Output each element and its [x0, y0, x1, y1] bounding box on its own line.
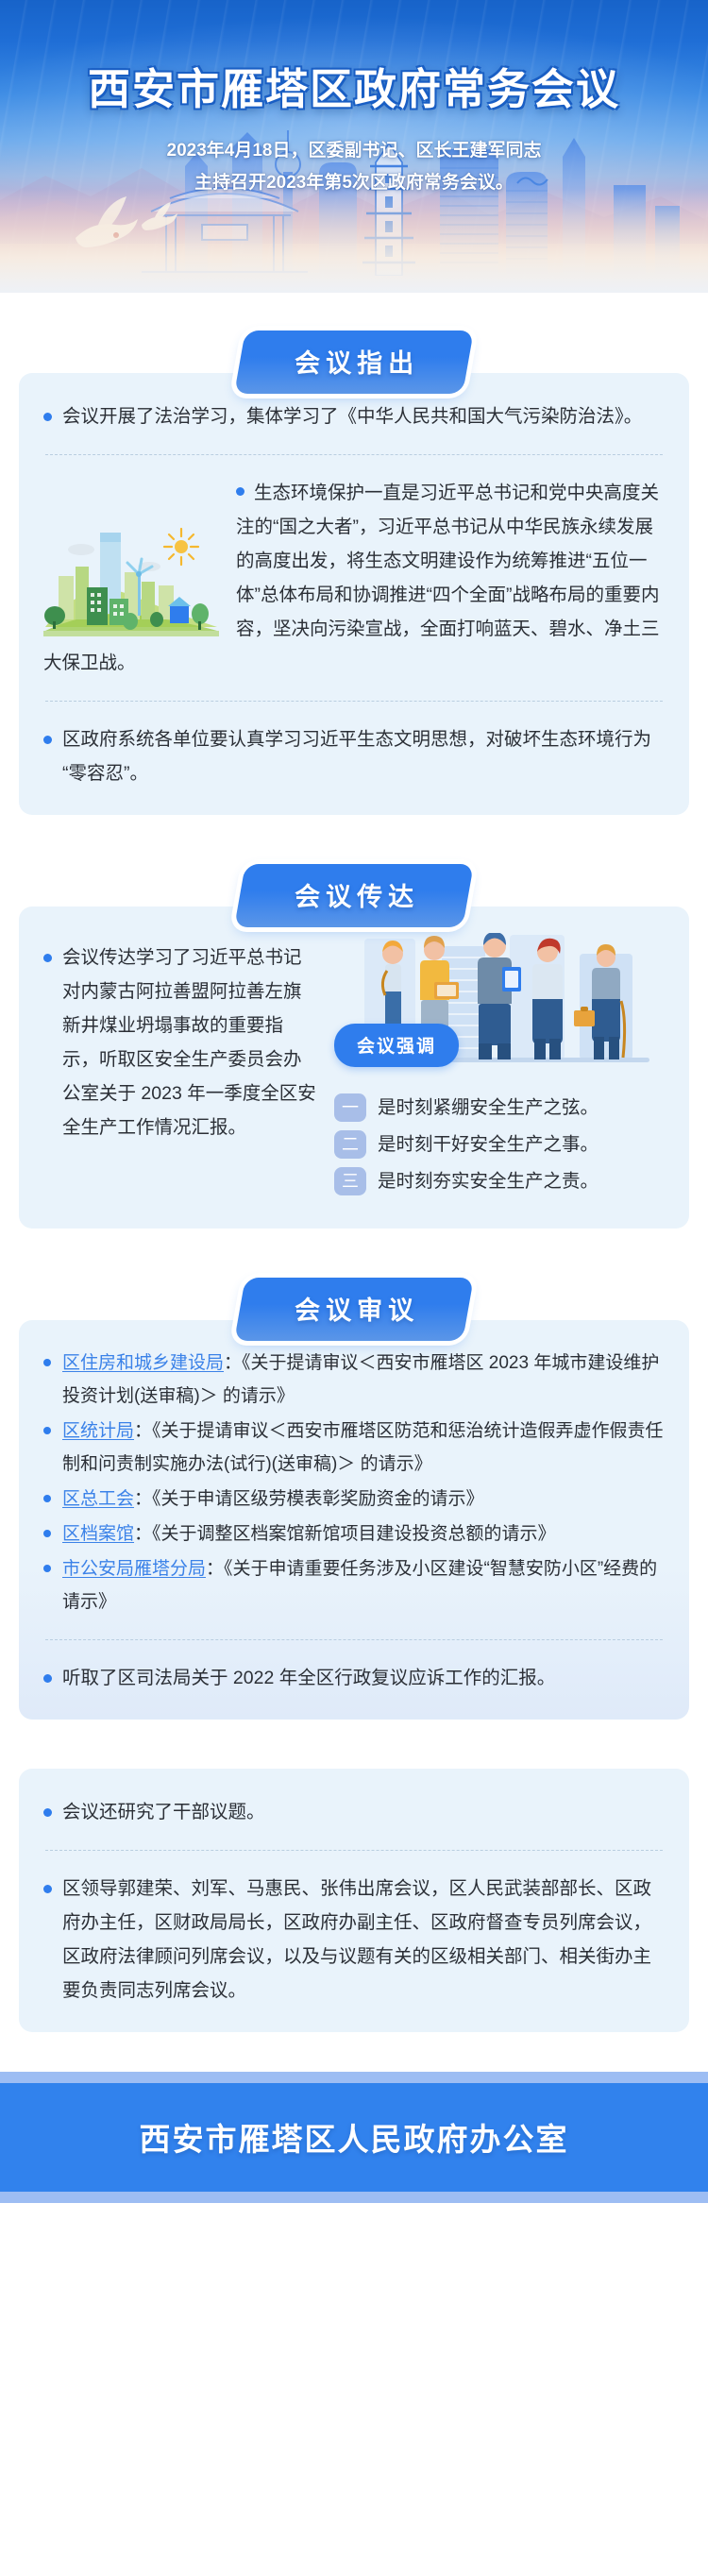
bullet-dot-icon: [43, 954, 52, 962]
emphasis-text: 是时刻夯实安全生产之责。: [378, 1167, 598, 1195]
section-meeting-conveyance: 会议传达 会议传达学习了习近平总书记对内蒙古阿拉善盟阿拉善左旗新井煤业坍塌事故的…: [19, 864, 689, 1229]
bullet-text: 会议开展了法治学习，集体学习了《中华人民共和国大气污染防治法》。: [62, 399, 665, 433]
section-chip-label: 会议指出: [289, 343, 419, 380]
subtitle-line-2: 主持召开2023年第5次区政府常务会议。: [0, 167, 708, 199]
section-meeting-review: 会议审议 区住房和城乡建设局：《关于提请审议＜西安市雁塔区 2023 年城市建设…: [19, 1278, 689, 1720]
bullet-text: 会议传达学习了习近平总书记对内蒙古阿拉善盟阿拉善左旗新井煤业坍塌事故的重要指示，…: [62, 941, 319, 1144]
emphasis-text: 是时刻干好安全生产之事。: [378, 1130, 598, 1159]
review-item-text: ：《关于申请区级劳模表彰奖励资金的请示》: [134, 1489, 484, 1509]
page-subtitle: 2023年4月18日，区委副书记、区长王建军同志 主持召开2023年第5次区政府…: [0, 135, 708, 199]
review-item-org[interactable]: 市公安局雁塔分局: [62, 1559, 206, 1579]
section-closing: 会议还研究了干部议题。 区领导郭建荣、刘军、马惠民、张伟出席会议，区人民武装部部…: [19, 1769, 689, 2032]
dashed-divider: [45, 454, 663, 455]
bullet-dot-icon: [43, 1674, 52, 1683]
page-title: 西安市雁塔区政府常务会议: [0, 0, 708, 116]
list-item: 一 是时刻紧绷安全生产之弦。: [334, 1093, 665, 1122]
review-item-text: ：《关于提请审议＜西安市雁塔区防范和惩治统计造假弄虚作假责任制和问责制实施办法(…: [62, 1421, 664, 1474]
subtitle-line-1: 2023年4月18日，区委副书记、区长王建军同志: [0, 135, 708, 167]
bullet-dot-icon: [43, 736, 52, 744]
bullet-dot-icon: [43, 1359, 51, 1366]
list-item: 二 是时刻干好安全生产之事。: [334, 1130, 665, 1159]
emphasis-chip: 会议强调: [334, 1024, 459, 1067]
card-closing: 会议还研究了干部议题。 区领导郭建荣、刘军、马惠民、张伟出席会议，区人民武装部部…: [19, 1769, 689, 2032]
list-item: 区住房和城乡建设局：《关于提请审议＜西安市雁塔区 2023 年城市建设维护投资计…: [43, 1347, 665, 1413]
bullet-text: 区领导郭建荣、刘军、马惠民、张伟出席会议，区人民武装部部长、区政府办主任，区财政…: [62, 1872, 665, 2008]
bullet-text: 听取了区司法局关于 2022 年全区行政复议应诉工作的汇报。: [62, 1661, 665, 1695]
review-item-body: 区档案馆：《关于调整区档案馆新馆项目建设投资总额的请示》: [62, 1517, 665, 1551]
bullet-closing-2: 区领导郭建荣、刘军、马惠民、张伟出席会议，区人民武装部部长、区政府办主任，区财政…: [43, 1872, 665, 2008]
bullet-dot-icon: [43, 1530, 51, 1537]
spacer: [0, 1720, 708, 1769]
review-item-body: 区总工会：《关于申请区级劳模表彰奖励资金的请示》: [62, 1483, 665, 1516]
card-meeting-points: 会议开展了法治学习，集体学习了《中华人民共和国大气污染防治法》。: [19, 373, 689, 815]
bullet-text: 会议还研究了干部议题。: [62, 1795, 665, 1829]
bullet-dot-icon: [43, 1565, 51, 1572]
review-item-org[interactable]: 区统计局: [62, 1421, 134, 1441]
conveyance-illustration-column: 会议强调 一 是时刻紧绷安全生产之弦。 二 是时刻干好安全生产之事。: [334, 933, 665, 1204]
footer-bar: 西安市雁塔区人民政府办公室: [0, 2083, 708, 2192]
section-chip-row: 会议审议: [19, 1278, 689, 1341]
footer-outer-band: 西安市雁塔区人民政府办公室: [0, 2072, 708, 2203]
bullet-dot-icon: [43, 1427, 51, 1434]
review-item-body: 区住房和城乡建设局：《关于提请审议＜西安市雁塔区 2023 年城市建设维护投资计…: [62, 1347, 665, 1413]
review-item-text: ：《关于调整区档案馆新馆项目建设投资总额的请示》: [134, 1524, 556, 1544]
list-item: 区总工会：《关于申请区级劳模表彰奖励资金的请示》: [43, 1483, 665, 1516]
bullet-dot-icon: [43, 413, 52, 421]
review-items-list: 区住房和城乡建设局：《关于提请审议＜西安市雁塔区 2023 年城市建设维护投资计…: [43, 1347, 665, 1618]
bullet-dot-icon: [236, 487, 244, 496]
review-item-body: 区统计局：《关于提请审议＜西安市雁塔区防范和惩治统计造假弄虚作假责任制和问责制实…: [62, 1415, 665, 1481]
card-meeting-conveyance: 会议传达学习了习近平总书记对内蒙古阿拉善盟阿拉善左旗新井煤业坍塌事故的重要指示，…: [19, 907, 689, 1229]
content-body: 会议指出 会议开展了法治学习，集体学习了《中华人民共和国大气污染防治法》。: [0, 293, 708, 2032]
bullet-closing-1: 会议还研究了干部议题。: [43, 1795, 665, 1829]
dashed-divider: [45, 1639, 663, 1640]
section-chip-label: 会议传达: [289, 876, 419, 913]
section-chip-row: 会议指出: [19, 330, 689, 394]
conveyance-text-column: 会议传达学习了习近平总书记对内蒙古阿拉善盟阿拉善左旗新井煤业坍塌事故的重要指示，…: [43, 933, 319, 1144]
review-item-org[interactable]: 区住房和城乡建设局: [62, 1353, 224, 1373]
bullet-dot-icon: [43, 1495, 51, 1502]
bullet-point-1: 会议开展了法治学习，集体学习了《中华人民共和国大气污染防治法》。: [43, 399, 665, 433]
emphasis-list: 一 是时刻紧绷安全生产之弦。 二 是时刻干好安全生产之事。 三 是时刻夯实安全生…: [334, 1093, 665, 1195]
bullet-dot-icon: [43, 1885, 52, 1893]
bullet-text: 区政府系统各单位要认真学习习近平生态文明思想，对破坏生态环境行为“零容忍”。: [62, 722, 665, 790]
bullet-review-footnote: 听取了区司法局关于 2022 年全区行政复议应诉工作的汇报。: [43, 1661, 665, 1695]
dashed-divider: [45, 701, 663, 702]
section-meeting-points: 会议指出 会议开展了法治学习，集体学习了《中华人民共和国大气污染防治法》。: [19, 330, 689, 815]
eco-city-illustration-icon: [43, 516, 219, 640]
spacer: [0, 815, 708, 864]
section-chip-label: 会议审议: [289, 1290, 419, 1327]
review-item-body: 市公安局雁塔分局：《关于申请重要任务涉及小区建设“智慧安防小区”经费的请示》: [62, 1552, 665, 1618]
conveyance-columns: 会议传达学习了习近平总书记对内蒙古阿拉善盟阿拉善左旗新井煤业坍塌事故的重要指示，…: [43, 933, 665, 1204]
section-chip-meeting-conveyance: 会议传达: [234, 864, 474, 927]
section-chip-meeting-review: 会议审议: [234, 1278, 474, 1341]
section-chip-meeting-points: 会议指出: [234, 330, 474, 394]
bullet-point-2: 生态环境保护一直是习近平总书记和党中央高度关注的“国之大者”，习近平总书记从中华…: [43, 476, 665, 680]
card-meeting-review: 区住房和城乡建设局：《关于提请审议＜西安市雁塔区 2023 年城市建设维护投资计…: [19, 1320, 689, 1720]
dove-small-icon: [134, 196, 193, 240]
list-item: 区档案馆：《关于调整区档案馆新馆项目建设投资总额的请示》: [43, 1517, 665, 1551]
review-item-org[interactable]: 区档案馆: [62, 1524, 134, 1544]
emphasis-number-badge: 三: [334, 1167, 366, 1195]
bullet-conveyance: 会议传达学习了习近平总书记对内蒙古阿拉善盟阿拉善左旗新井煤业坍塌事故的重要指示，…: [43, 941, 319, 1144]
emphasis-number-badge: 一: [334, 1093, 366, 1122]
footer-organization: 西安市雁塔区人民政府办公室: [140, 2122, 569, 2157]
list-item: 三 是时刻夯实安全生产之责。: [334, 1167, 665, 1195]
review-item-org[interactable]: 区总工会: [62, 1489, 134, 1509]
section-chip-row: 会议传达: [19, 864, 689, 927]
spacer: [0, 1229, 708, 1278]
list-item: 区统计局：《关于提请审议＜西安市雁塔区防范和惩治统计造假弄虚作假责任制和问责制实…: [43, 1415, 665, 1481]
bullet-point-3: 区政府系统各单位要认真学习习近平生态文明思想，对破坏生态环境行为“零容忍”。: [43, 722, 665, 790]
bullet-dot-icon: [43, 1808, 52, 1817]
list-item: 市公安局雁塔分局：《关于申请重要任务涉及小区建设“智慧安防小区”经费的请示》: [43, 1552, 665, 1618]
infographic-page: 西安市雁塔区政府常务会议 2023年4月18日，区委副书记、区长王建军同志 主持…: [0, 0, 708, 2203]
dashed-divider: [45, 1850, 663, 1851]
spacer: [0, 293, 708, 330]
emphasis-text: 是时刻紧绷安全生产之弦。: [378, 1093, 598, 1122]
hero-banner: 西安市雁塔区政府常务会议 2023年4月18日，区委副书记、区长王建军同志 主持…: [0, 0, 708, 293]
emphasis-number-badge: 二: [334, 1130, 366, 1159]
